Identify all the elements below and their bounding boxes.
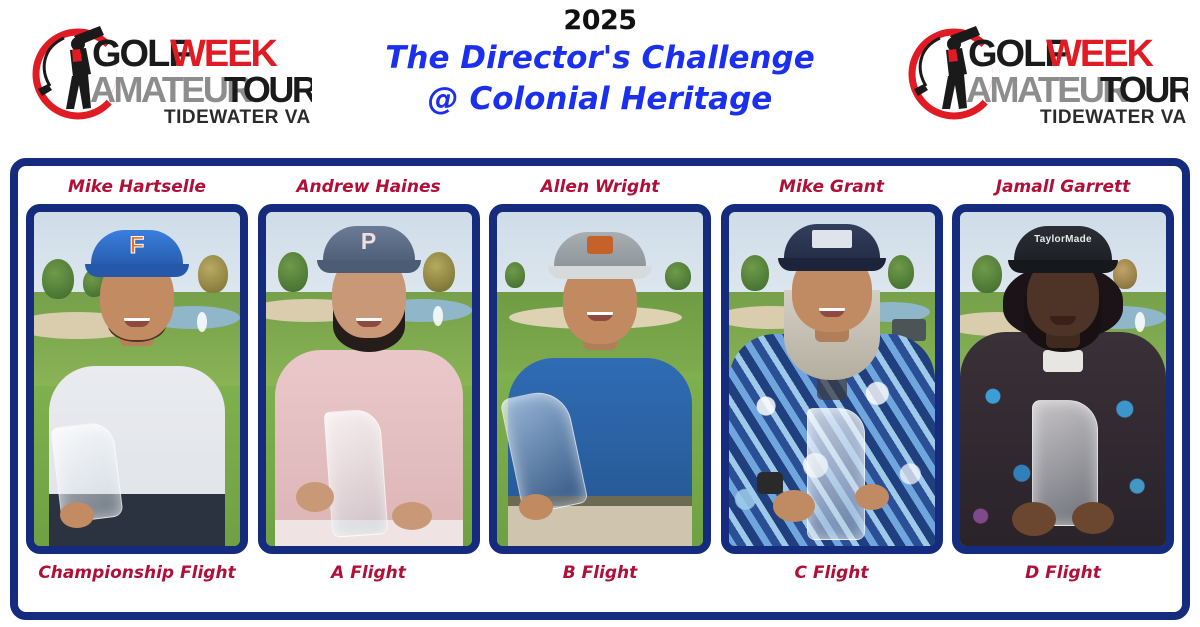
winner-name: Mike Hartselle <box>68 172 206 204</box>
golfweek-amateur-tour-logo-right: GOLF WEEK AMATEUR TOUR TIDEWATER VA <box>888 8 1188 143</box>
cap-logo-text: TaylorMade <box>1034 234 1092 245</box>
winner-card-c-flight[interactable]: Mike Grant <box>721 172 943 608</box>
svg-text:TIDEWATER VA: TIDEWATER VA <box>164 107 311 128</box>
golfweek-logo-icon: GOLF WEEK AMATEUR TOUR TIDEWATER VA <box>12 8 312 143</box>
event-title-line-1: The Director's Challenge <box>340 38 860 79</box>
winners-card-row: Mike Hartselle <box>18 166 1182 612</box>
event-title-line-2: @ Colonial Heritage <box>340 79 860 120</box>
event-winners-graphic: GOLF WEEK AMATEUR TOUR TIDEWATER VA 2025… <box>0 0 1200 627</box>
event-year: 2025 <box>340 4 860 38</box>
winner-photo: TaylorMade <box>960 212 1166 546</box>
winner-name: Allen Wright <box>541 172 660 204</box>
cap-logo-text: P <box>361 228 376 255</box>
golfweek-logo-icon: GOLF WEEK AMATEUR TOUR TIDEWATER VA <box>888 8 1188 143</box>
svg-text:TIDEWATER VA: TIDEWATER VA <box>1040 107 1187 128</box>
winner-photo <box>497 212 703 546</box>
winner-photo-frame[interactable]: P <box>258 204 480 554</box>
svg-text:TOUR: TOUR <box>1100 69 1188 110</box>
winner-name: Jamall Garrett <box>996 172 1131 204</box>
winner-card-championship[interactable]: Mike Hartselle <box>26 172 248 608</box>
winner-name: Mike Grant <box>779 172 884 204</box>
header: GOLF WEEK AMATEUR TOUR TIDEWATER VA 2025… <box>0 0 1200 152</box>
winner-flight: D Flight <box>1025 554 1101 588</box>
golfweek-amateur-tour-logo-left: GOLF WEEK AMATEUR TOUR TIDEWATER VA <box>12 8 312 143</box>
event-title-block: 2025 The Director's Challenge @ Colonial… <box>340 4 860 120</box>
winner-card-a-flight[interactable]: Andrew Haines <box>258 172 480 608</box>
winner-photo-frame[interactable] <box>721 204 943 554</box>
winner-card-b-flight[interactable]: Allen Wright <box>489 172 711 608</box>
winner-flight: C Flight <box>794 554 868 588</box>
winner-photo: F <box>34 212 240 546</box>
winner-flight: B Flight <box>563 554 638 588</box>
winner-flight: A Flight <box>331 554 406 588</box>
svg-text:TOUR: TOUR <box>224 69 312 110</box>
winner-photo-frame[interactable] <box>489 204 711 554</box>
winner-photo <box>729 212 935 546</box>
winner-photo: P <box>266 212 472 546</box>
winner-photo-frame[interactable]: F <box>26 204 248 554</box>
winner-flight: Championship Flight <box>38 554 235 588</box>
cap-logo-text: F <box>130 232 145 260</box>
winner-name: Andrew Haines <box>296 172 440 204</box>
winner-photo-frame[interactable]: TaylorMade <box>952 204 1174 554</box>
cap-patch-icon <box>812 230 852 248</box>
winner-card-d-flight[interactable]: Jamall Garrett <box>952 172 1174 608</box>
winners-panel: Mike Hartselle <box>10 158 1190 620</box>
cap-patch-icon <box>587 236 613 254</box>
